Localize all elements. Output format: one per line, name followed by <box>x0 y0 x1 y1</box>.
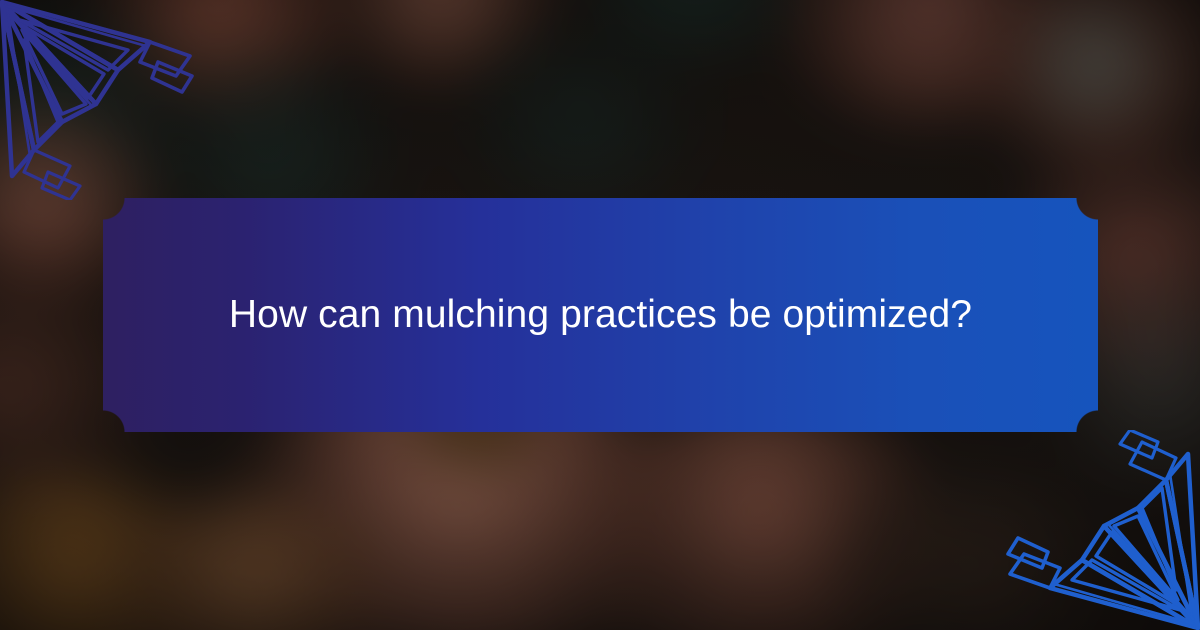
quote-card: How can mulching practices be optimized? <box>103 198 1098 432</box>
quote-card-canvas: How can mulching practices be optimized? <box>0 0 1200 630</box>
quote-text: How can mulching practices be optimized? <box>169 290 1032 340</box>
